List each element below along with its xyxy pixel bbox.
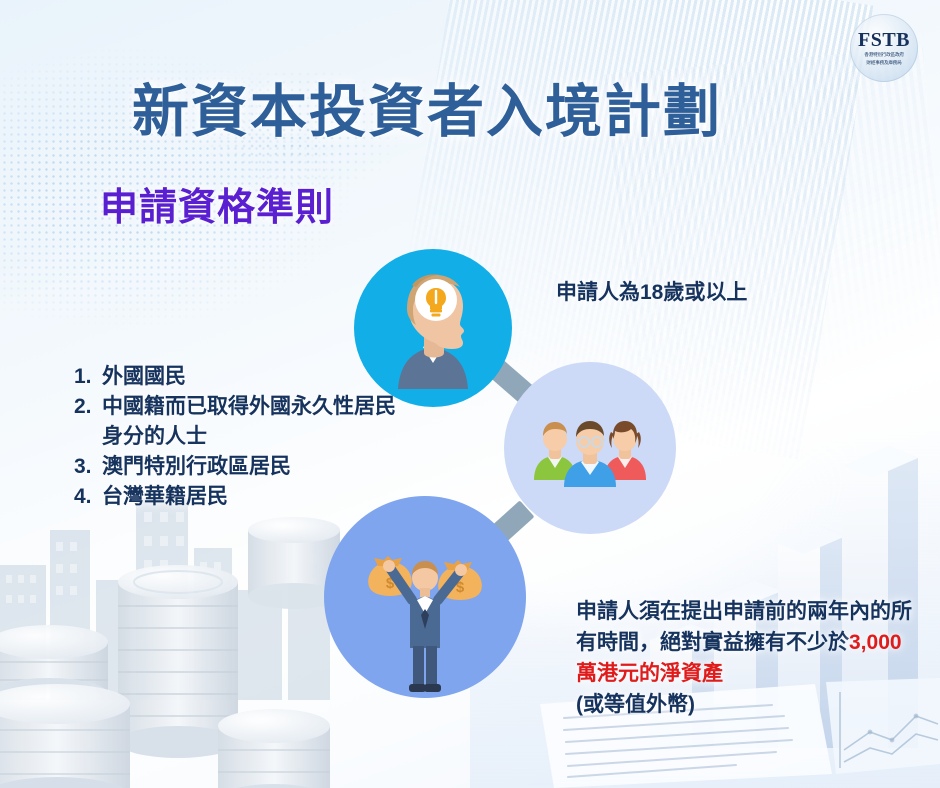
node-age-requirement xyxy=(354,249,512,407)
page-title: 新資本投資者入境計劃 xyxy=(132,66,722,148)
age-requirement-text: 申請人為18歲或以上 xyxy=(556,276,747,306)
list-item-label: 澳門特別行政區居民 xyxy=(102,452,404,482)
list-item-number: 2. xyxy=(74,392,102,422)
man-with-money-bags-icon: $ $ xyxy=(324,496,526,698)
fstb-logo: FSTB 香港特別行政區政府 財經事務及庫務局 xyxy=(850,14,918,82)
logo-chinese-line-1: 香港特別行政區政府 xyxy=(864,52,904,58)
list-item-number: 1. xyxy=(74,362,102,392)
node-net-assets: $ $ xyxy=(324,496,526,698)
node-nationality xyxy=(504,362,676,534)
list-item: 3. 澳門特別行政區居民 xyxy=(74,452,404,482)
logo-acronym: FSTB xyxy=(858,30,910,50)
list-item-number: 4. xyxy=(74,482,102,512)
silver-coin-stacks xyxy=(0,494,340,788)
three-people-icon xyxy=(504,362,676,534)
list-item-number: 3. xyxy=(74,452,102,482)
asset-requirement-text: 申請人須在提出申請前的兩年內的所有時間，絕對實益擁有不少於3,000 萬港元的淨… xyxy=(576,596,926,720)
page-subtitle: 申請資格準則 xyxy=(100,176,334,231)
logo-chinese-line-2: 財經事務及庫務局 xyxy=(866,60,901,66)
asset-requirement-suffix: (或等值外幣) xyxy=(576,693,695,716)
infographic-poster: FSTB 香港特別行政區政府 財經事務及庫務局 新資本投資者入境計劃 申請資格準… xyxy=(0,0,940,788)
head-with-lightbulb-icon xyxy=(354,249,512,407)
